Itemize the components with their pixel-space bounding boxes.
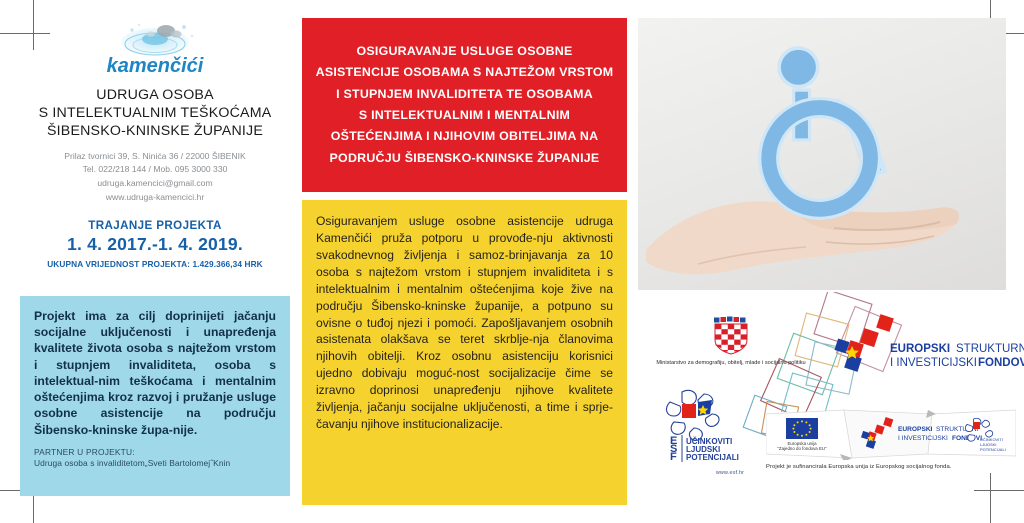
eu-flag-icon: [786, 418, 818, 439]
kamencici-logo: kamenčići: [102, 18, 208, 80]
eu-flag-label-2: "Zajedno do fondova EU": [777, 446, 827, 451]
partner-name: Udruga osoba s invaliditetom„Sveti Barto…: [34, 458, 276, 468]
wheelchair-icon: [769, 46, 888, 209]
project-duration: TRAJANJE PROJEKTA 1. 4. 2017.-1. 4. 2019…: [20, 219, 290, 269]
project-title-box: OSIGURAVANJE USLUGE OSOBNE ASISTENCIJE O…: [302, 18, 627, 192]
contact-details: Prilaz tvornici 39, S. Ninića 36 / 22000…: [20, 150, 290, 206]
eu-strip-esi-4: FONDOVI: [952, 435, 982, 442]
contact-phone: Tel. 022/218 144 / Mob. 095 3000 330: [20, 163, 290, 177]
title-line-3: I STUPNJEM INVALIDITETA TE OSOBAMA: [316, 84, 614, 105]
title-line-2: ASISTENCIJE OSOBAMA S NAJTEŽOM VRSTOM: [316, 62, 614, 83]
title-line-6: PODRUČJU ŠIBENSKO-KNINSKE ŽUPANIJE: [316, 148, 614, 169]
title-line-1: OSIGURAVANJE USLUGE OSOBNE: [316, 41, 614, 62]
ministry-name: Ministarstvo za demografiju, obitelj, ml…: [656, 359, 806, 367]
project-description-box: Osiguravanjem usluge osobne asistencije …: [302, 200, 627, 505]
eu-cofinancing-caption: Projekt je sufinancirala Europska unija …: [766, 464, 1016, 470]
contact-address: Prilaz tvornici 39, S. Ninića 36 / 22000…: [20, 150, 290, 164]
title-line-5: OŠTEĆENJIMA I NJIHOVIM OBITELJIMA NA: [316, 126, 614, 147]
ministry-logo: Ministarstvo za demografiju, obitelj, ml…: [656, 316, 806, 367]
esi-funds-logo: EUROPSKI STRUKTURNI I INVESTICIJSKI FOND…: [834, 312, 1024, 387]
project-description-text: Osiguravanjem usluge osobne asistencije …: [316, 213, 613, 433]
logo-wordmark: kamenčići: [107, 55, 204, 77]
project-title: OSIGURAVANJE USLUGE OSOBNE ASISTENCIJE O…: [316, 41, 614, 169]
contact-email[interactable]: udruga.kamencici@gmail.com: [20, 177, 290, 191]
organization-panel: kamenčići UDRUGA OSOBA S INTELEKTUALNIM …: [20, 18, 290, 269]
accessibility-photo: [638, 18, 1006, 290]
organization-name: UDRUGA OSOBA S INTELEKTUALNIM TEŠKOĆAMA …: [20, 86, 290, 141]
funding-logos: Ministarstvo za demografiju, obitelj, ml…: [638, 300, 1020, 510]
org-name-line-3: ŠIBENSKO-KNINSKE ŽUPANIJE: [20, 122, 290, 140]
logo-wrapper: kamenčići: [20, 18, 290, 80]
eu-strip-esi-3: I INVESTICIJSKI: [898, 435, 948, 442]
contact-website[interactable]: www.udruga-kamencici.hr: [20, 191, 290, 205]
esi-line2-bold: FONDOVI: [978, 357, 1024, 369]
esf-letter-f: F: [670, 451, 677, 462]
org-name-line-1: UDRUGA OSOBA: [20, 86, 290, 104]
eu-strip-esi-1: EUROPSKI: [898, 426, 933, 433]
esi-line1-bold: EUROPSKI: [890, 343, 950, 355]
croatian-coat-of-arms-icon: [709, 316, 753, 356]
project-goal-box: Projekt ima za cilj doprinijeti jačanju …: [20, 296, 290, 496]
esf-tagline-3: POTENCIJALI: [686, 453, 739, 462]
duration-dates: 1. 4. 2017.-1. 4. 2019.: [20, 234, 290, 255]
title-line-4: S INTELEKTUALNIM I MENTALNIM: [316, 105, 614, 126]
duration-label: TRAJANJE PROJEKTA: [20, 219, 290, 232]
eu-funding-strip: Europska unija "Zajedno do fondova EU" E…: [766, 408, 1016, 460]
esi-squares-icon: [834, 314, 893, 372]
project-goal-text: Projekt ima za cilj doprinijeti jačanju …: [34, 308, 276, 438]
esi-line1-rest: STRUKTURNI: [956, 343, 1024, 355]
eu-strip-esf-3: POTENCIJALI: [980, 447, 1006, 452]
org-name-line-2: S INTELEKTUALNIM TEŠKOĆAMA: [20, 104, 290, 122]
esf-website[interactable]: www.esf.hr: [660, 470, 800, 476]
brochure-page: kamenčići UDRUGA OSOBA S INTELEKTUALNIM …: [0, 0, 1024, 523]
project-total-value: UKUPNA VRIJEDNOST PROJEKTA: 1.429.366,34…: [20, 259, 290, 269]
esi-line2-rest: I INVESTICIJSKI: [890, 357, 977, 369]
partner-label: PARTNER U PROJEKTU:: [34, 447, 276, 457]
